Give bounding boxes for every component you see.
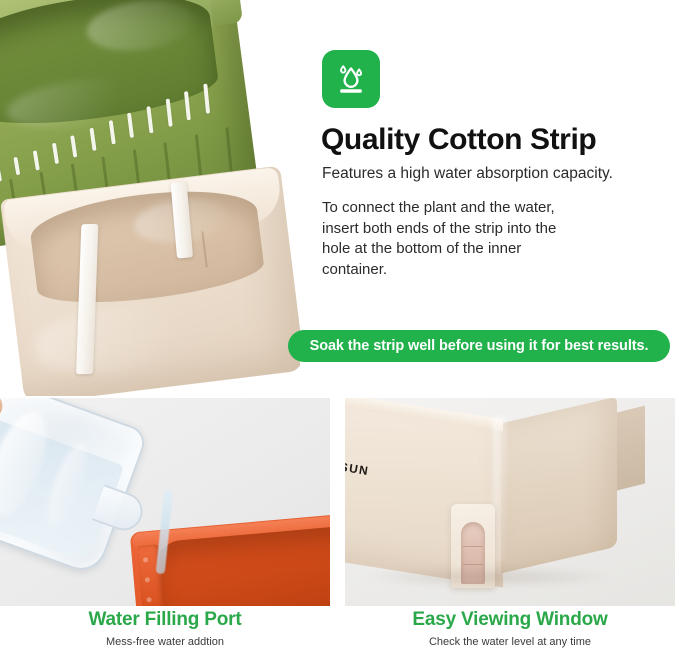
basket-rib [194,134,202,179]
caption-subtitle: Check the water level at any time [345,634,675,650]
cream-outer-container [0,166,300,396]
easy-viewing-window-caption: Easy Viewing Window Check the water leve… [345,608,675,650]
drain-slot [146,106,153,133]
feature-subtitle: Features a high water absorption capacit… [322,163,672,184]
feature-info-block: Quality Cotton Strip Features a high wat… [300,0,679,396]
container-side-face [501,398,617,573]
easy-viewing-window-photo: IVOSUN [345,398,675,606]
drain-slot [184,91,191,120]
water-level-line [463,546,483,547]
drain-slot [165,98,172,126]
water-filling-port-photo [0,398,330,606]
panel-water-filling-port: Water Filling Port Mess-free water addti… [0,398,330,656]
panel-divider [330,396,345,608]
tip-banner: Soak the strip well before using it for … [288,330,670,362]
feature-description: To connect the plant and the water, inse… [322,198,584,280]
caption-title: Easy Viewing Window [345,608,675,632]
top-feature-section: Quality Cotton Strip Features a high wat… [0,0,679,396]
page-title: Quality Cotton Strip [321,123,671,157]
caption-subtitle: Mess-free water addtion [0,634,330,650]
panel-easy-viewing-window: IVOSUN Easy Viewing Window Check the wat… [345,398,675,656]
container-corner-highlight [493,416,507,562]
caption-title: Water Filling Port [0,608,330,632]
water-level-line [463,564,483,565]
green-basket-handle [208,0,243,26]
tip-banner-label: Soak the strip well before using it for … [310,338,649,354]
basket-rib [225,127,233,175]
water-filling-port-caption: Water Filling Port Mess-free water addti… [0,608,330,650]
container-shadow [365,566,615,588]
hero-product-photo [0,0,300,396]
water-drop-absorption-icon [322,50,380,108]
drain-slot [203,84,210,114]
